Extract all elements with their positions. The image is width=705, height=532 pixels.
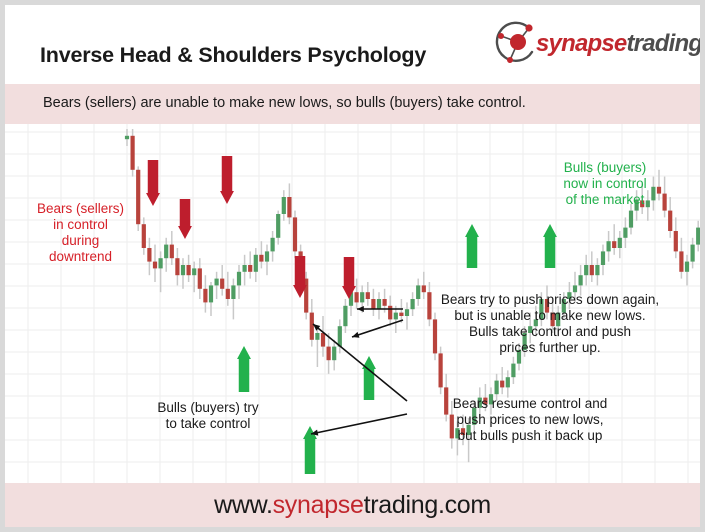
annotation-line: in control xyxy=(23,217,138,233)
annotation-line: but is unable to make new lows. xyxy=(405,308,695,324)
logo-wordmark: synapsetrading xyxy=(536,30,700,58)
website-url[interactable]: www.synapsetrading.com xyxy=(5,491,700,520)
footer-suffix: trading.com xyxy=(364,491,491,519)
synapsetrading-logo[interactable]: synapsetrading xyxy=(489,17,674,69)
footer-band: www.synapsetrading.com xyxy=(5,483,700,527)
annotation-bears-push-down-again: Bears try to push prices down again,but … xyxy=(405,292,695,356)
annotation-line: but bulls push it back up xyxy=(410,428,650,444)
annotation-line: prices further up. xyxy=(405,340,695,356)
annotation-line: of the market xyxy=(530,192,680,208)
annotation-bulls-try-take-control: Bulls (buyers) tryto take control xyxy=(123,400,293,432)
annotation-line: Bears (sellers) xyxy=(23,201,138,217)
annotation-line: Bulls take control and push xyxy=(405,324,695,340)
logo-brand: synapse xyxy=(536,30,626,57)
subtitle-text: Bears (sellers) are unable to make new l… xyxy=(43,95,526,111)
footer-prefix: www. xyxy=(214,491,273,519)
slide-header: Inverse Head & Shoulders Psychology syna… xyxy=(5,5,700,84)
annotation-line: Bears try to push prices down again, xyxy=(405,292,695,308)
candlestick-chart: Bears (sellers)in controlduringdowntrend… xyxy=(5,124,700,483)
annotation-bears-downtrend: Bears (sellers)in controlduringdowntrend xyxy=(23,201,138,265)
logo-product: trading xyxy=(626,30,700,57)
annotation-line: Bulls (buyers) xyxy=(530,160,680,176)
subtitle-band: Bears (sellers) are unable to make new l… xyxy=(5,84,700,124)
footer-brand: synapse xyxy=(273,491,364,519)
slide-canvas: Inverse Head & Shoulders Psychology syna… xyxy=(5,5,700,527)
annotation-line: Bulls (buyers) try xyxy=(123,400,293,416)
annotation-bears-resume-control: Bears resume control andpush prices to n… xyxy=(410,396,650,444)
annotation-line: push prices to new lows, xyxy=(410,412,650,428)
synapse-node-circle-icon xyxy=(489,19,541,67)
annotation-bulls-in-control: Bulls (buyers)now in controlof the marke… xyxy=(530,160,680,208)
annotation-line: Bears resume control and xyxy=(410,396,650,412)
annotation-line: to take control xyxy=(123,416,293,432)
annotation-line: now in control xyxy=(530,176,680,192)
annotation-line: during xyxy=(23,233,138,249)
annotation-line: downtrend xyxy=(23,249,138,265)
page-title: Inverse Head & Shoulders Psychology xyxy=(40,43,426,68)
